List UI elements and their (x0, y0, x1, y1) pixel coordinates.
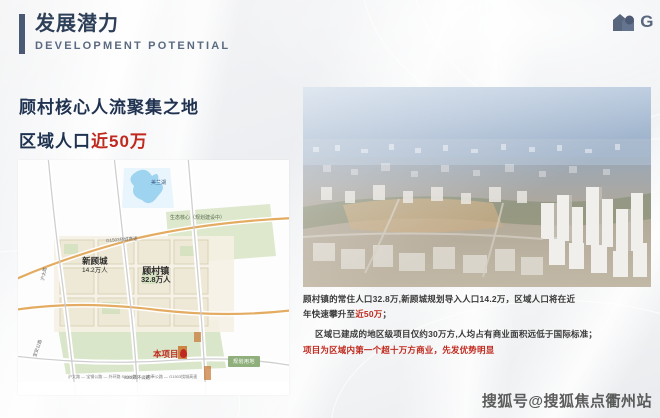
description-line-2-prefix: 年快速攀升至 (303, 309, 355, 319)
map-label-project: 本项目 (153, 350, 179, 360)
map-label-district-population: 14.2万人 (82, 267, 108, 274)
aerial-photo-graphic (303, 87, 651, 287)
map-legend: 规划用地 (228, 356, 260, 367)
aerial-cityscape-photo (303, 87, 651, 287)
map-label-lake: 美兰湖 (151, 181, 166, 187)
brand-logo: G (611, 11, 654, 33)
description-line-2-highlight: 近50万 (355, 309, 382, 319)
regional-map-image: 美兰湖 生态核心（规划建设中） G1503绕城高速 沪太路 S20郊环公路 宝安… (18, 160, 289, 395)
logo-letter: G (640, 12, 654, 32)
description-line-3: 区域已建成的地区级项目仅约30万方,人均占有商业面积远低于国际标准； (303, 327, 655, 342)
headline-line-1: 顾村核心人流聚集之地 (19, 96, 199, 120)
headline-line-2-prefix: 区域人口 (19, 132, 91, 151)
house-logo-icon (611, 11, 637, 33)
map-label-district-name: 新顾城 (82, 256, 108, 266)
page-title: 发展潜力 (35, 12, 230, 36)
description-line-4: 项目为区域内第一个超十万方商业，先发优势明显 (303, 343, 655, 358)
watermark-text: 搜狐号@搜狐焦点衢州站 (482, 390, 652, 411)
description-line-1: 顾村镇的常住人口32.8万,新顾城规划导入人口14.2万，区域人口将在近 (303, 292, 655, 307)
map-label-town: 顾村镇 32.8万人 (141, 266, 171, 285)
map-caption: 沪太路 — 宝钢公路 — 外环路 S20公路 — 川南奉公路 — G1503绕城… (68, 374, 197, 380)
header-accent-bar (19, 14, 25, 54)
section-header: 发展潜力 DEVELOPMENT POTENTIAL (19, 12, 230, 54)
headline-line-2-highlight: 近50万 (91, 132, 148, 151)
map-label-district: 新顾城 14.2万人 (82, 257, 108, 274)
map-label-eco: 生态核心（规划建设中） (170, 216, 225, 222)
headline-line-2: 区域人口近50万 (19, 130, 199, 154)
description-line-2-suffix: ； (382, 309, 391, 319)
map-project-pin-icon (180, 349, 187, 358)
header-text-group: 发展潜力 DEVELOPMENT POTENTIAL (35, 12, 230, 54)
map-label-town-population: 32.8万人 (141, 276, 171, 285)
page-subtitle-en: DEVELOPMENT POTENTIAL (35, 40, 230, 52)
description-text-block: 顾村镇的常住人口32.8万,新顾城规划导入人口14.2万，区域人口将在近 年快速… (303, 292, 655, 358)
description-line-2: 年快速攀升至近50万； (303, 307, 655, 322)
headline-block: 顾村核心人流聚集之地 区域人口近50万 (19, 96, 199, 154)
watermark: 搜狐号@搜狐焦点衢州站 (482, 390, 652, 411)
